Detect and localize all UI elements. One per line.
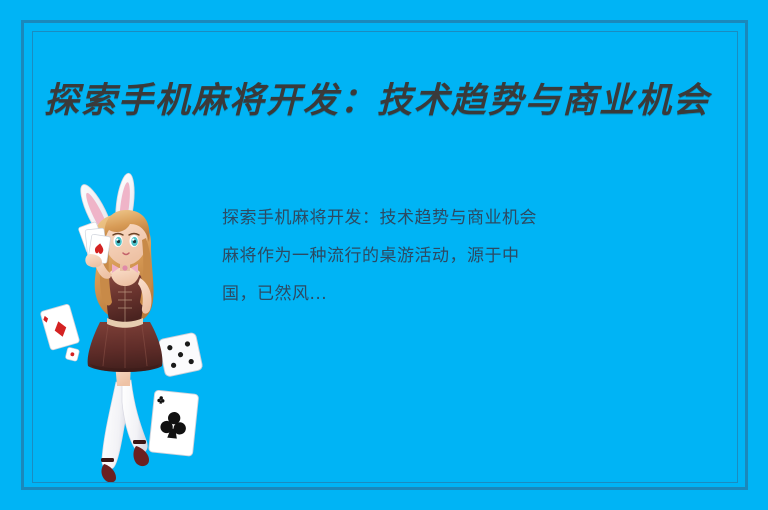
page-title: 探索手机麻将开发：技术趋势与商业机会 <box>44 75 734 127</box>
die-small <box>65 347 80 362</box>
bunny-girl-casino-illustration <box>30 172 220 482</box>
page-canvas: 探索手机麻将开发：技术趋势与商业机会 探索手机麻将开发：技术趋势与商业机会麻将作… <box>0 0 768 510</box>
ace-of-clubs-card <box>149 390 199 456</box>
article-excerpt: 探索手机麻将开发：技术趋势与商业机会麻将作为一种流行的桌游活动，源于中国，已然风… <box>222 199 547 313</box>
ace-of-diamonds-card <box>40 304 80 351</box>
die-large <box>158 332 203 377</box>
